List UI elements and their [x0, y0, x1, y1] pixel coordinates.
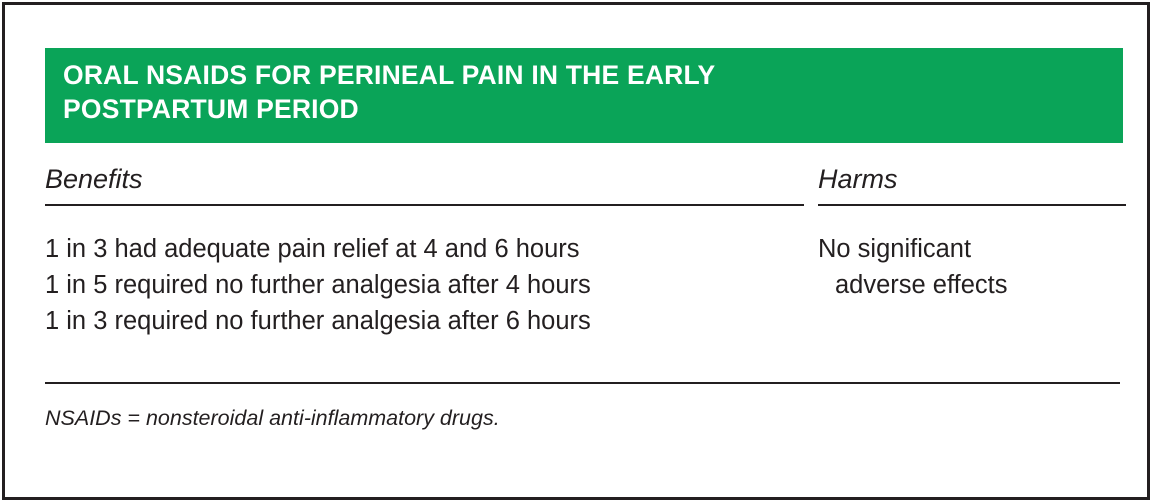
list-item: No significant	[818, 231, 1118, 267]
footnote-rule	[45, 382, 1120, 384]
cell-harms: No significant adverse effects	[818, 206, 1118, 303]
column-header-benefits: Benefits	[45, 162, 810, 204]
list-item: 1 in 5 required no further analgesia aft…	[45, 267, 810, 303]
table-container: Oral NSAIDs for perineal pain in the ear…	[45, 48, 1123, 432]
column-benefits: Benefits 1 in 3 had adequate pain relief…	[45, 162, 810, 339]
column-header-harms: Harms	[818, 162, 1118, 204]
column-separator	[810, 162, 818, 339]
list-item: adverse effects	[818, 267, 1118, 303]
column-header-harms-label: Harms	[818, 162, 1118, 196]
table-header-band: Oral NSAIDs for perineal pain in the ear…	[45, 48, 1123, 143]
list-item: 1 in 3 required no further analgesia aft…	[45, 303, 810, 339]
screenshot-root: Oral NSAIDs for perineal pain in the ear…	[0, 0, 1153, 503]
cell-benefits: 1 in 3 had adequate pain relief at 4 and…	[45, 206, 810, 339]
list-item: 1 in 3 had adequate pain relief at 4 and…	[45, 231, 810, 267]
table-card: Oral NSAIDs for perineal pain in the ear…	[2, 2, 1150, 500]
footnote-text: NSAIDs = nonsteroidal anti-inflammatory …	[45, 404, 1123, 432]
table-columns: Benefits 1 in 3 had adequate pain relief…	[45, 162, 1123, 339]
page-title: Oral NSAIDs for perineal pain in the ear…	[63, 58, 763, 126]
column-harms: Harms No significant adverse effects	[818, 162, 1118, 339]
column-header-benefits-label: Benefits	[45, 162, 810, 196]
